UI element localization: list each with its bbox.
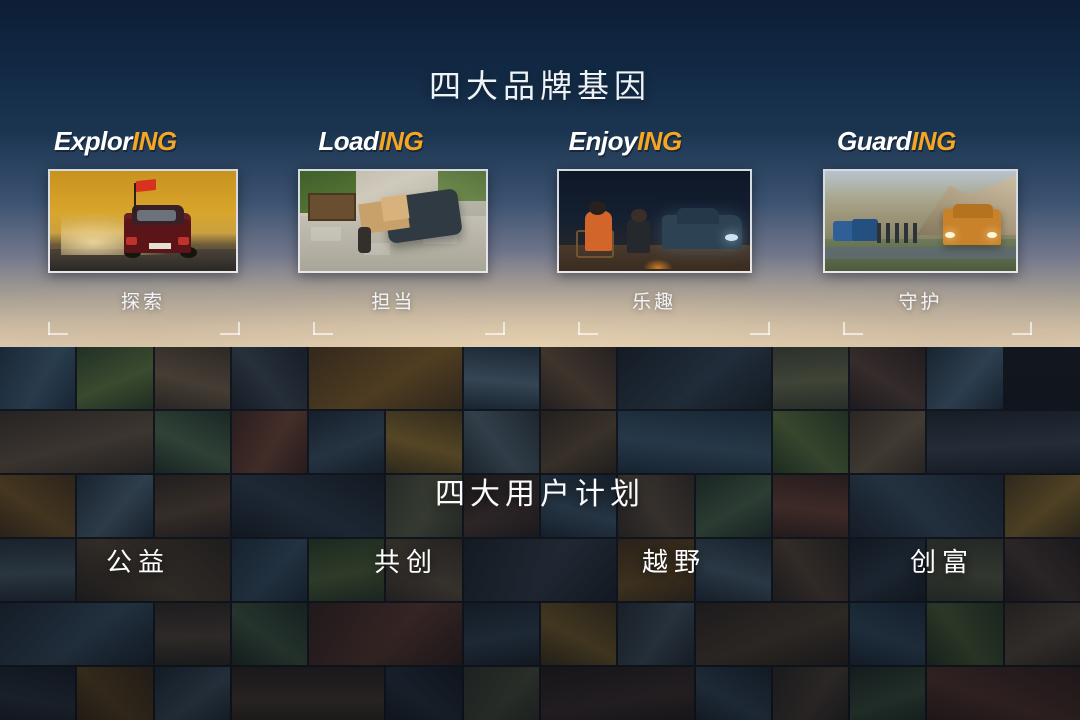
wordmark-prefix: Guard bbox=[837, 126, 911, 156]
plan-item-yueye[interactable]: 越野 bbox=[642, 542, 706, 579]
brand-gene-label: 担当 bbox=[298, 287, 488, 314]
brand-gene-label: 乐趣 bbox=[557, 287, 752, 314]
aerial-pickup-loading-image bbox=[300, 171, 486, 271]
brand-gene-list: ExplorING 探索 LoadING bbox=[0, 126, 1080, 326]
plan-item-gongyi[interactable]: 公益 bbox=[106, 542, 170, 579]
wordmark-suffix: ING bbox=[132, 126, 177, 156]
plans-section-title: 四大用户计划 bbox=[0, 469, 1080, 513]
bracket-corner-icon bbox=[578, 322, 598, 335]
plan-item-chuangfu[interactable]: 创富 bbox=[910, 542, 974, 579]
bracket-corner-icon bbox=[313, 322, 333, 335]
brand-gene-wordmark: ExplorING bbox=[40, 126, 265, 160]
brand-gene-thumbnail-loading[interactable] bbox=[298, 169, 488, 273]
brand-gene-wordmark: EnjoyING bbox=[557, 126, 782, 160]
brand-gene-wordmark: LoadING bbox=[298, 126, 523, 160]
brand-gene-label: 守护 bbox=[823, 287, 1018, 314]
brand-gene-thumbnail-exploring[interactable] bbox=[48, 169, 238, 273]
brand-gene-section: 四大品牌基因 ExplorING 探索 bbox=[0, 0, 1080, 347]
mountain-road-convoy-image bbox=[825, 171, 1016, 271]
plan-item-gongchuang[interactable]: 共创 bbox=[374, 542, 438, 579]
wordmark-prefix: Explor bbox=[54, 126, 132, 156]
mosaic-dark-overlay bbox=[0, 347, 1080, 720]
user-plans-section: 四大用户计划 公益 共创 越野 创富 bbox=[0, 347, 1080, 720]
wordmark-suffix: ING bbox=[911, 126, 956, 156]
brand-gene-thumbnail-enjoying[interactable] bbox=[557, 169, 752, 273]
wordmark-suffix: ING bbox=[637, 126, 682, 156]
brand-gene-card-guarding[interactable]: GuardING 守护 bbox=[815, 126, 1040, 326]
wordmark-prefix: Load bbox=[318, 126, 378, 156]
user-plans-list: 公益 共创 越野 创富 bbox=[0, 542, 1080, 579]
wordmark-prefix: Enjoy bbox=[569, 126, 637, 156]
night-camping-truck-image bbox=[559, 171, 750, 271]
wordmark-suffix: ING bbox=[378, 126, 423, 156]
bracket-corner-icon bbox=[843, 322, 863, 335]
desert-truck-flag-image bbox=[50, 171, 236, 271]
brand-gene-wordmark: GuardING bbox=[815, 126, 1040, 160]
bracket-decoration-row bbox=[0, 322, 1080, 344]
brand-gene-thumbnail-guarding[interactable] bbox=[823, 169, 1018, 273]
brand-gene-card-exploring[interactable]: ExplorING 探索 bbox=[40, 126, 265, 326]
brand-gene-card-enjoying[interactable]: EnjoyING 乐趣 bbox=[557, 126, 782, 326]
bracket-corner-icon bbox=[48, 322, 68, 335]
bracket-corner-icon bbox=[750, 322, 770, 335]
slide-canvas: 四大品牌基因 ExplorING 探索 bbox=[0, 0, 1080, 720]
brand-section-title: 四大品牌基因 bbox=[0, 61, 1080, 107]
bracket-corner-icon bbox=[220, 322, 240, 335]
brand-gene-card-loading[interactable]: LoadING 担当 bbox=[298, 126, 523, 326]
bracket-corner-icon bbox=[1012, 322, 1032, 335]
brand-gene-label: 探索 bbox=[48, 287, 238, 314]
bracket-corner-icon bbox=[485, 322, 505, 335]
